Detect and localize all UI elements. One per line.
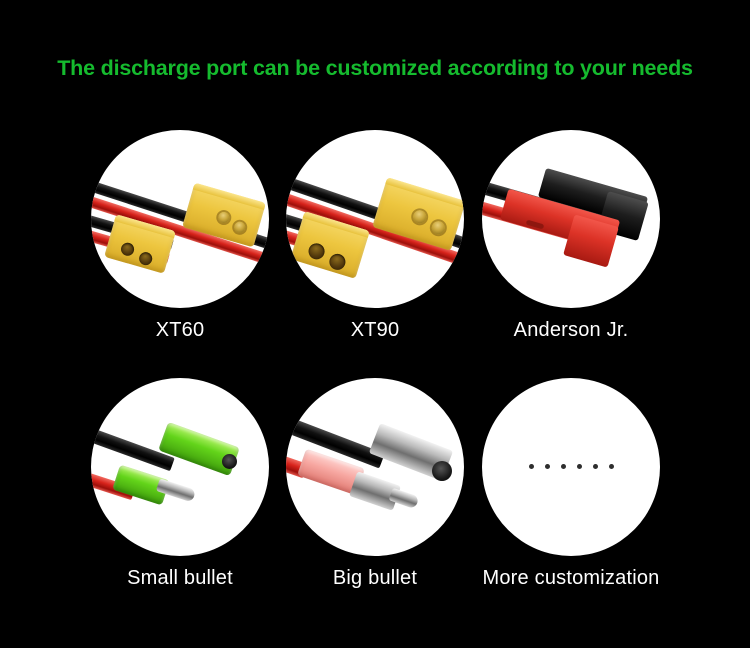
connector-card-anderson[interactable]: Anderson Jr. <box>475 130 667 342</box>
connector-row-1: XT60 <box>0 130 750 378</box>
small-bullet-connector-pair-icon <box>91 378 269 556</box>
connector-card-small-bullet[interactable]: Small bullet <box>84 378 276 590</box>
connector-label: XT90 <box>279 319 471 342</box>
big-bullet-image-circle <box>286 378 464 556</box>
connector-label: Anderson Jr. <box>475 319 667 342</box>
xt60-image-circle <box>91 130 269 308</box>
dot <box>529 464 534 469</box>
connector-label: Small bullet <box>84 567 276 590</box>
connector-label: More customization <box>475 567 667 590</box>
dot <box>577 464 582 469</box>
ellipsis-dots-icon <box>482 464 660 469</box>
more-customization-image-circle <box>482 378 660 556</box>
xt60-connector-pair-icon <box>91 130 269 308</box>
connector-label: Big bullet <box>279 567 471 590</box>
xt90-connector-pair-icon <box>286 130 464 308</box>
poster-root: The discharge port can be customized acc… <box>0 0 750 648</box>
dot <box>609 464 614 469</box>
connector-card-xt60[interactable]: XT60 <box>84 130 276 342</box>
page-title: The discharge port can be customized acc… <box>0 56 750 81</box>
connector-label: XT60 <box>84 319 276 342</box>
dot <box>593 464 598 469</box>
connector-grid: XT60 <box>0 130 750 626</box>
anderson-powerpole-connector-pair-icon <box>482 130 660 308</box>
big-bullet-connector-pair-icon <box>286 378 464 556</box>
xt90-image-circle <box>286 130 464 308</box>
anderson-image-circle <box>482 130 660 308</box>
dot <box>561 464 566 469</box>
connector-card-big-bullet[interactable]: Big bullet <box>279 378 471 590</box>
connector-row-2: Small bullet <box>0 378 750 626</box>
dot <box>545 464 550 469</box>
connector-card-more-customization[interactable]: More customization <box>475 378 667 590</box>
small-bullet-image-circle <box>91 378 269 556</box>
connector-card-xt90[interactable]: XT90 <box>279 130 471 342</box>
